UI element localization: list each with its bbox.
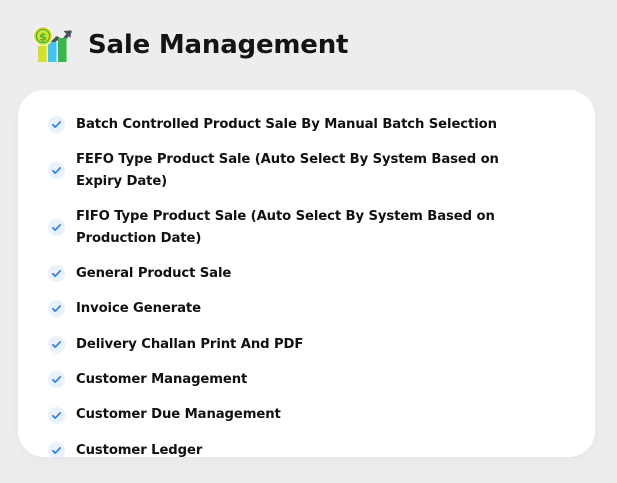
check-icon <box>48 371 65 388</box>
list-item-label: Customer Due Management <box>76 404 281 425</box>
list-item-label: Batch Controlled Product Sale By Manual … <box>76 114 497 135</box>
list-item-label: Invoice Generate <box>76 298 201 319</box>
list-item[interactable]: Delivery Challan Print And PDF <box>48 334 567 355</box>
check-icon <box>48 219 65 236</box>
feature-list: Batch Controlled Product Sale By Manual … <box>48 114 567 457</box>
list-item[interactable]: Batch Controlled Product Sale By Manual … <box>48 114 567 135</box>
check-icon <box>48 162 65 179</box>
svg-text:$: $ <box>39 31 47 44</box>
list-item[interactable]: FEFO Type Product Sale (Auto Select By S… <box>48 149 567 192</box>
list-item-label: FIFO Type Product Sale (Auto Select By S… <box>76 206 506 249</box>
page-header: $ Sale Management <box>0 0 617 68</box>
chart-increasing-with-money-icon: $ <box>30 24 74 66</box>
list-item[interactable]: Customer Due Management <box>48 404 567 425</box>
list-item[interactable]: Customer Management <box>48 369 567 390</box>
page-root: $ Sale Management Batch Controlled Produ… <box>0 0 617 483</box>
list-item-label: Customer Ledger <box>76 440 202 457</box>
list-item[interactable]: Invoice Generate <box>48 298 567 319</box>
list-item-label: General Product Sale <box>76 263 231 284</box>
check-icon <box>48 265 65 282</box>
check-icon <box>48 336 65 353</box>
list-item-label: Delivery Challan Print And PDF <box>76 334 303 355</box>
check-icon <box>48 116 65 133</box>
list-item[interactable]: FIFO Type Product Sale (Auto Select By S… <box>48 206 567 249</box>
list-item-label: FEFO Type Product Sale (Auto Select By S… <box>76 149 506 192</box>
check-icon <box>48 407 65 424</box>
feature-card: Batch Controlled Product Sale By Manual … <box>18 90 595 457</box>
check-icon <box>48 442 65 457</box>
check-icon <box>48 300 65 317</box>
list-item[interactable]: General Product Sale <box>48 263 567 284</box>
list-item-label: Customer Management <box>76 369 247 390</box>
list-item[interactable]: Customer Ledger <box>48 440 567 457</box>
page-title: Sale Management <box>88 32 348 58</box>
